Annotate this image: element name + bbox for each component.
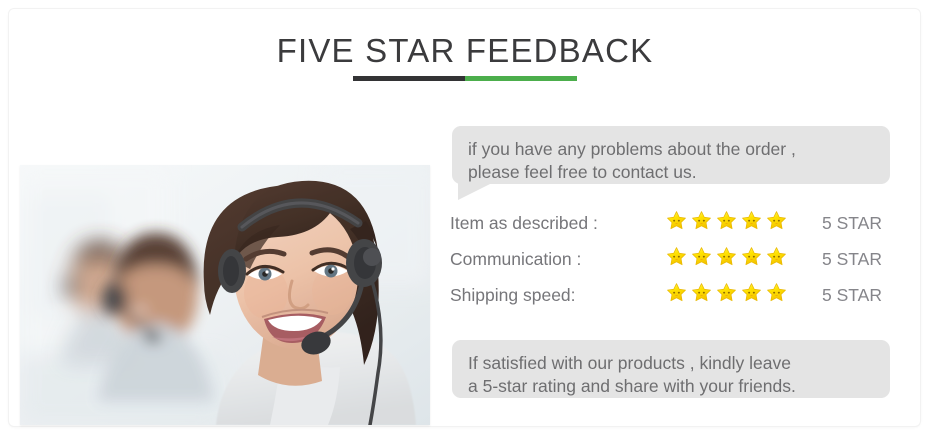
customer-service-photo [20, 165, 430, 425]
rating-value: 5 STAR [822, 249, 882, 270]
contact-message-line-1: if you have any problems about the order… [468, 138, 874, 161]
review-request-line-2: a 5-star rating and share with your frie… [468, 375, 874, 398]
star-rating[interactable] [666, 246, 787, 267]
feedback-banner: FIVE STAR FEEDBACK [0, 0, 930, 442]
star-icon [716, 246, 737, 267]
contact-message-bubble: if you have any problems about the order… [452, 126, 890, 184]
star-icon [691, 282, 712, 303]
title-underline-dark-segment [353, 76, 465, 81]
rating-value: 5 STAR [822, 213, 882, 234]
star-icon [741, 246, 762, 267]
star-icon [666, 246, 687, 267]
star-icon [766, 282, 787, 303]
star-icon [691, 246, 712, 267]
review-request-bubble: If satisfied with our products , kindly … [452, 340, 890, 398]
rating-row: Item as described : 5 STAR [450, 210, 900, 246]
rating-label: Item as described : [450, 213, 598, 234]
page-title: FIVE STAR FEEDBACK [0, 32, 930, 70]
contact-message-line-2: please feel free to contact us. [468, 161, 874, 184]
ratings-list: Item as described : 5 STAR Communication… [450, 210, 900, 318]
title-underline-green-segment [465, 76, 577, 81]
rating-label: Shipping speed: [450, 285, 576, 306]
star-icon [766, 246, 787, 267]
rating-label: Communication : [450, 249, 581, 270]
rating-row: Communication : 5 STAR [450, 246, 900, 282]
rating-row: Shipping speed: 5 STAR [450, 282, 900, 318]
star-icon [716, 282, 737, 303]
speech-bubble-tail [458, 182, 494, 200]
star-icon [716, 210, 737, 231]
star-rating[interactable] [666, 210, 787, 231]
star-icon [741, 210, 762, 231]
rating-value: 5 STAR [822, 285, 882, 306]
star-icon [691, 210, 712, 231]
star-icon [741, 282, 762, 303]
title-underline [353, 76, 577, 81]
star-icon [666, 282, 687, 303]
star-icon [666, 210, 687, 231]
review-request-line-1: If satisfied with our products , kindly … [468, 352, 874, 375]
star-icon [766, 210, 787, 231]
star-rating[interactable] [666, 282, 787, 303]
